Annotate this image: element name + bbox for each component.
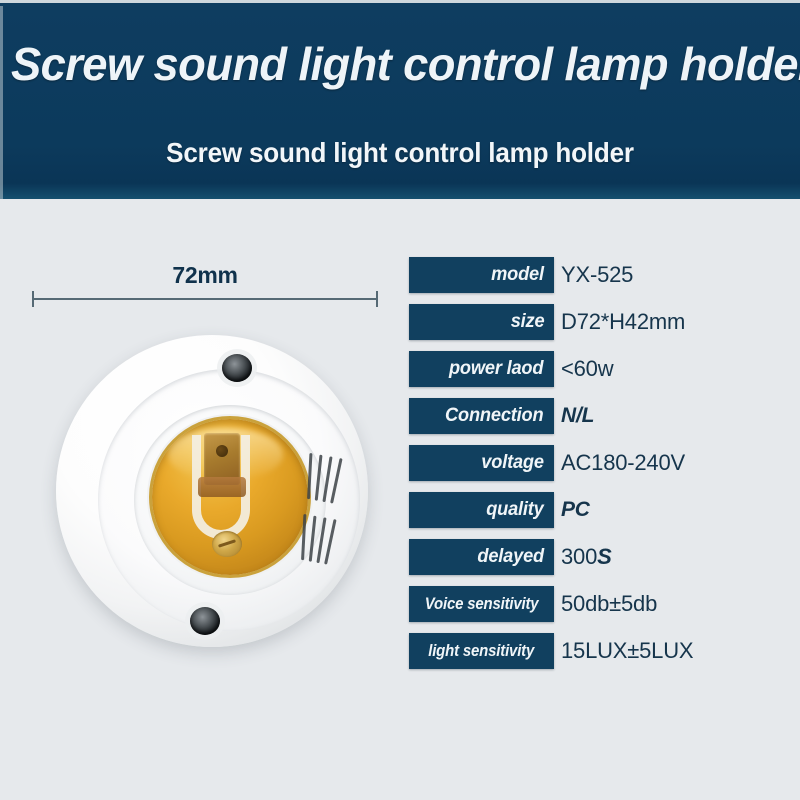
spec-label: Voice sensitivity xyxy=(425,594,539,614)
page-title: Screw sound light control lamp holder xyxy=(11,36,799,92)
spec-row: delayed300S xyxy=(409,539,794,575)
spec-label: model xyxy=(491,264,544,286)
spec-label-chip: power laod xyxy=(409,351,554,387)
lamp-holder-base xyxy=(56,335,368,647)
spec-value: 50db±5db xyxy=(561,586,657,622)
page-subtitle: Screw sound light control lamp holder xyxy=(28,134,772,172)
spec-label-chip: voltage xyxy=(409,445,554,481)
spec-label-chip: delayed xyxy=(409,539,554,575)
spec-label: delayed xyxy=(477,546,544,568)
mounting-hole-top xyxy=(222,354,252,382)
header-banner: Screw sound light control lamp holder Sc… xyxy=(0,0,800,199)
spec-label: voltage xyxy=(481,452,544,474)
spec-row: power laod<60w xyxy=(409,351,794,387)
dimension-label: 72mm xyxy=(32,262,378,289)
spec-label: light sensitivity xyxy=(429,641,535,661)
spec-row: ConnectionN/L xyxy=(409,398,794,434)
spec-row: modelYX-525 xyxy=(409,257,794,293)
spec-row: voltageAC180-240V xyxy=(409,445,794,481)
dimension-cap-right xyxy=(376,291,378,307)
socket-screw xyxy=(212,531,242,557)
spec-value: D72*H42mm xyxy=(561,304,685,340)
lamp-socket xyxy=(152,419,308,575)
product-photo xyxy=(38,325,386,673)
spec-value: 300S xyxy=(561,539,612,575)
spec-row: Voice sensitivity50db±5db xyxy=(409,586,794,622)
mounting-hole-bottom xyxy=(190,607,220,635)
spec-label: Connection xyxy=(445,405,543,427)
specification-table: modelYX-525sizeD72*H42mmpower laod<60wCo… xyxy=(409,257,794,680)
spec-row: qualityPC xyxy=(409,492,794,528)
spec-value: YX-525 xyxy=(561,257,633,293)
spec-label-chip: Connection xyxy=(409,398,554,434)
spec-label-chip: size xyxy=(409,304,554,340)
spec-label-chip: light sensitivity xyxy=(409,633,554,669)
spec-label: quality xyxy=(486,499,543,521)
product-infographic: Screw sound light control lamp holder Sc… xyxy=(0,0,800,800)
spec-row: light sensitivity15LUX±5LUX xyxy=(409,633,794,669)
spec-label: size xyxy=(511,311,545,333)
spec-value: AC180-240V xyxy=(561,445,685,481)
spec-label: power laod xyxy=(449,358,543,380)
socket-crossbar xyxy=(198,477,246,497)
microphone-grille-upper xyxy=(302,453,349,505)
microphone-grille-lower xyxy=(296,514,343,566)
spec-label-chip: Voice sensitivity xyxy=(409,586,554,622)
spec-value: <60w xyxy=(561,351,613,387)
spec-value: N/L xyxy=(561,398,594,434)
spec-label-chip: quality xyxy=(409,492,554,528)
spec-value: 15LUX±5LUX xyxy=(561,633,693,669)
spec-label-chip: model xyxy=(409,257,554,293)
spec-value: PC xyxy=(561,492,590,528)
dimension-line xyxy=(33,298,377,300)
spec-row: sizeD72*H42mm xyxy=(409,304,794,340)
